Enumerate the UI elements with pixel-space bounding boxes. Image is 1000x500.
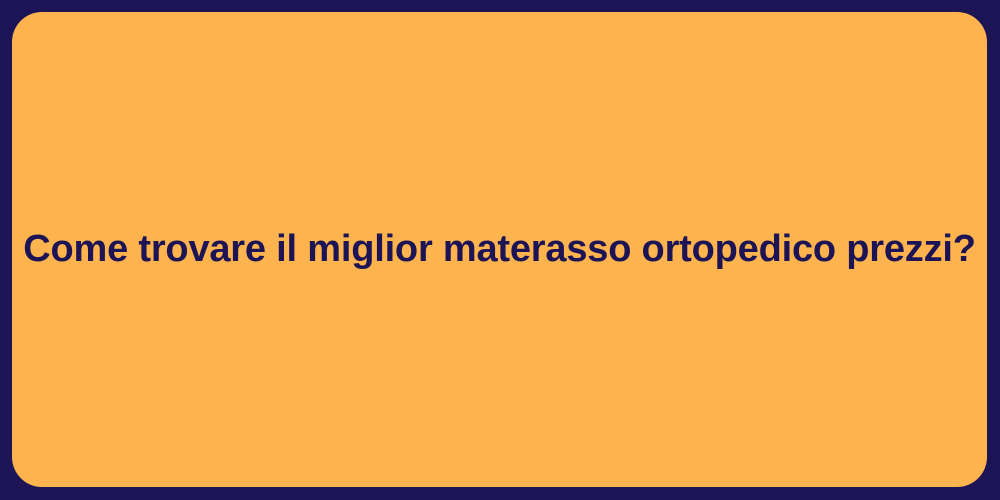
title-card: Come trovare il miglior materasso ortope… bbox=[12, 12, 987, 487]
page-title: Come trovare il miglior materasso ortope… bbox=[12, 226, 987, 274]
outer-border-frame: Come trovare il miglior materasso ortope… bbox=[0, 0, 1000, 500]
